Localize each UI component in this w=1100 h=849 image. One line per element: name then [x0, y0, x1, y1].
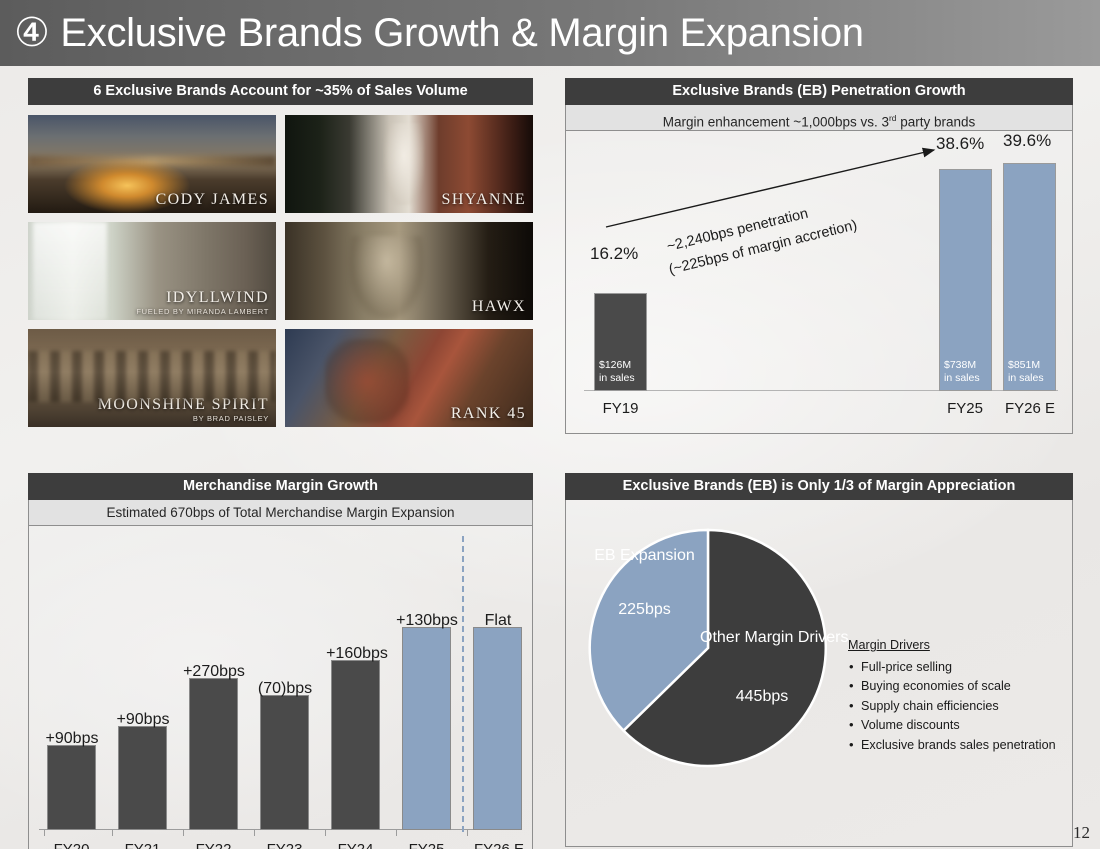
merch-value-label-fy26: Flat: [470, 612, 526, 630]
penetration-panel-header: Exclusive Brands (EB) Penetration Growth: [565, 78, 1073, 105]
brand-tile-idyllwind[interactable]: IDYLLWINDFUELED BY MIRANDA LAMBERT: [28, 222, 276, 320]
merch-plot: +90bps +90bps +270bps (70)bps +160bps +1…: [29, 526, 532, 849]
pie-label-eb-expansion: EB Expansion: [592, 546, 697, 565]
penetration-panel: Exclusive Brands (EB) Penetration Growth…: [565, 78, 1073, 434]
page-title: ④ Exclusive Brands Growth & Margin Expan…: [0, 10, 864, 56]
penetration-panel-subheader: Margin enhancement ~1,000bps vs. 3rd par…: [565, 105, 1073, 131]
merch-bar-fy20[interactable]: [47, 745, 96, 830]
penetration-value-label-fy25: 38.6%: [936, 134, 984, 154]
pie-label-other-margin-drivers: Other Margin Drivers: [700, 628, 824, 647]
pie-value-other-margin-drivers: 445bps: [700, 687, 824, 706]
brand-subline: FUELED BY MIRANDA LAMBERT: [136, 308, 269, 316]
margin-drivers-items: Full-price selling Buying economies of s…: [848, 658, 1066, 756]
merch-xlabel-fy23: FY23: [256, 841, 313, 849]
merch-xlabel-fy20: FY20: [43, 841, 100, 849]
brand-label: SHYANNE: [442, 192, 526, 209]
brands-panel: 6 Exclusive Brands Account for ~35% of S…: [28, 78, 533, 427]
penetration-bar-inner-label-fy26: $851Min sales: [1008, 359, 1051, 384]
penetration-value-label-fy19: 16.2%: [590, 244, 638, 264]
merch-xlabel-fy21: FY21: [114, 841, 171, 849]
pie-chart: EB Expansion 225bps Other Margin Drivers…: [584, 524, 832, 772]
margin-driver-item: Buying economies of scale: [848, 677, 1066, 697]
brand-label: HAWX: [472, 299, 526, 316]
penetration-xlabel-fy19: FY19: [594, 400, 647, 417]
margin-drivers-list: Margin Drivers Full-price selling Buying…: [848, 636, 1066, 755]
merch-panel: Merchandise Margin Growth Estimated 670b…: [28, 473, 533, 849]
merch-forecast-divider: [462, 536, 464, 832]
penetration-value-label-fy26: 39.6%: [1003, 131, 1051, 151]
margin-driver-item: Exclusive brands sales penetration: [848, 736, 1066, 756]
merch-value-label-fy23: (70)bps: [245, 680, 325, 698]
merch-panel-subheader: Estimated 670bps of Total Merchandise Ma…: [28, 500, 533, 526]
page-number: 12: [1073, 823, 1090, 843]
brand-tile-hawx[interactable]: HAWX: [285, 222, 533, 320]
merch-bar-fy25[interactable]: [402, 627, 451, 830]
brand-label: CODY JAMES: [156, 192, 269, 209]
margin-driver-item: Supply chain efficiencies: [848, 697, 1066, 717]
penetration-xlabel-fy26: FY26 E: [995, 400, 1065, 417]
brand-tile-moonshine-spirit[interactable]: MOONSHINE SPIRITBY BRAD PAISLEY: [28, 329, 276, 427]
merch-panel-header: Merchandise Margin Growth: [28, 473, 533, 500]
merch-value-label-fy25: +130bps: [383, 612, 471, 630]
pie-panel: Exclusive Brands (EB) is Only 1/3 of Mar…: [565, 473, 1073, 847]
brand-label: IDYLLWINDFUELED BY MIRANDA LAMBERT: [136, 290, 269, 316]
slide-number-marker: ④: [14, 11, 50, 55]
merch-xlabel-fy26: FY26 E: [466, 841, 532, 849]
merch-xlabel-fy24: FY24: [327, 841, 384, 849]
brand-tile-cody-james[interactable]: CODY JAMES: [28, 115, 276, 213]
penetration-xlabel-fy25: FY25: [935, 400, 995, 417]
merch-chart-area: +90bps +90bps +270bps (70)bps +160bps +1…: [28, 526, 533, 849]
penetration-plot: ~2,240bps penetration (~225bps of margin…: [566, 131, 1072, 433]
merch-bar-fy24[interactable]: [331, 660, 380, 830]
penetration-bar-inner-label-fy25: $738Min sales: [944, 359, 987, 384]
penetration-bar-fy26[interactable]: $851Min sales: [1003, 163, 1056, 391]
brand-tile-rank-45[interactable]: RANK 45: [285, 329, 533, 427]
merch-value-label-fy21: +90bps: [103, 711, 183, 729]
merch-xlabel-fy25: FY25: [398, 841, 455, 849]
brand-name: IDYLLWIND: [166, 289, 269, 306]
merch-xlabel-fy22: FY22: [185, 841, 242, 849]
slide-root: ④ Exclusive Brands Growth & Margin Expan…: [0, 0, 1100, 849]
brand-name: HAWX: [472, 298, 526, 315]
brand-tile-shyanne[interactable]: SHYANNE: [285, 115, 533, 213]
brand-grid: CODY JAMES SHYANNE IDYLLWINDFUELED BY MI…: [28, 115, 533, 427]
penetration-chart-area: ~2,240bps penetration (~225bps of margin…: [565, 131, 1073, 434]
pie-panel-header: Exclusive Brands (EB) is Only 1/3 of Mar…: [565, 473, 1073, 500]
brand-name: MOONSHINE SPIRIT: [98, 396, 269, 413]
penetration-bar-fy25[interactable]: $738Min sales: [939, 169, 992, 391]
brand-subline: BY BRAD PAISLEY: [98, 415, 269, 423]
slide-title-text: Exclusive Brands Growth & Margin Expansi…: [60, 11, 863, 55]
brand-label: RANK 45: [451, 406, 526, 423]
brand-name: CODY JAMES: [156, 191, 269, 208]
pie-value-eb-expansion: 225bps: [592, 600, 697, 619]
margin-drivers-title: Margin Drivers: [848, 636, 1066, 656]
margin-driver-item: Full-price selling: [848, 658, 1066, 678]
brand-label: MOONSHINE SPIRITBY BRAD PAISLEY: [98, 397, 269, 423]
penetration-bar-inner-label-fy19: $126Min sales: [599, 359, 642, 384]
slide-title-bar: ④ Exclusive Brands Growth & Margin Expan…: [0, 0, 1100, 66]
brand-name: RANK 45: [451, 405, 526, 422]
subheader-pre: Margin enhancement ~1,000bps vs. 3: [663, 115, 889, 130]
merch-value-label-fy24: +160bps: [313, 645, 401, 663]
merch-bar-fy23[interactable]: [260, 695, 309, 830]
merch-bar-fy21[interactable]: [118, 726, 167, 830]
margin-driver-item: Volume discounts: [848, 716, 1066, 736]
brand-name: SHYANNE: [442, 191, 526, 208]
subheader-post: party brands: [896, 115, 975, 130]
penetration-bar-fy19[interactable]: $126Min sales: [594, 293, 647, 391]
merch-value-label-fy20: +90bps: [32, 730, 112, 748]
pie-chart-area: EB Expansion 225bps Other Margin Drivers…: [565, 500, 1073, 847]
merch-value-label-fy22: +270bps: [170, 663, 258, 681]
merch-bar-fy22[interactable]: [189, 678, 238, 830]
brands-panel-header: 6 Exclusive Brands Account for ~35% of S…: [28, 78, 533, 105]
merch-bar-fy26[interactable]: [473, 627, 522, 830]
